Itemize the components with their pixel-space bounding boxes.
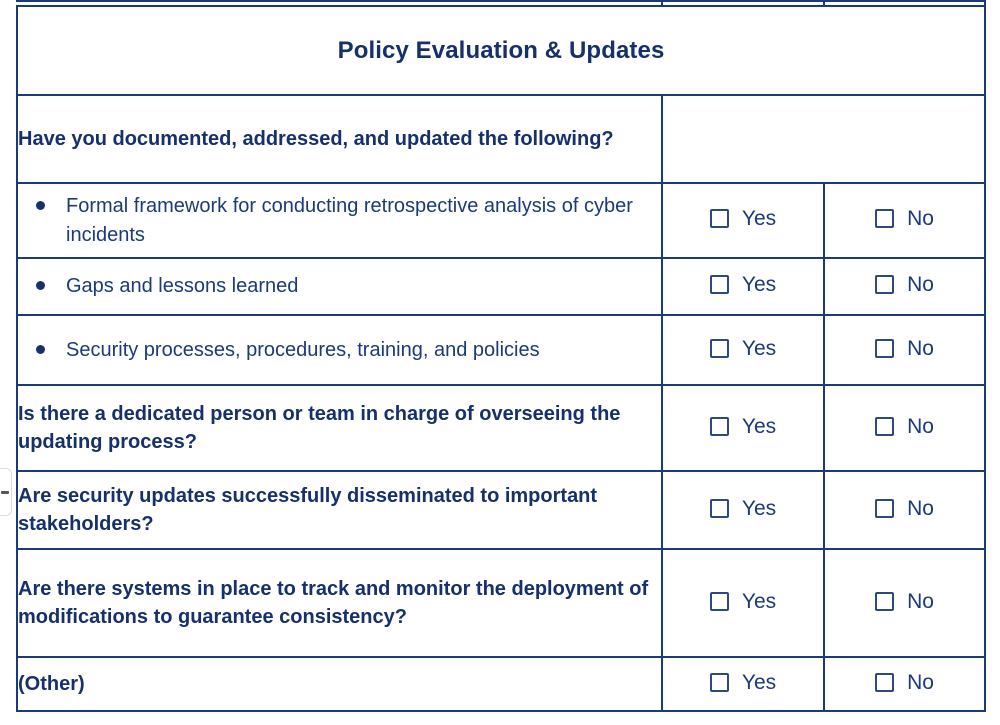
yes-label: Yes (742, 208, 776, 229)
table-row: Are there systems in place to track and … (17, 549, 985, 657)
no-checkbox[interactable] (875, 673, 894, 692)
no-label: No (907, 338, 934, 359)
no-label: No (907, 416, 934, 437)
yes-checkbox[interactable] (710, 209, 729, 228)
bullet-item-cell: Gaps and lessons learned (17, 258, 662, 315)
policy-evaluation-form-page: Policy Evaluation & Updates Have you doc… (0, 0, 1000, 725)
no-checkbox[interactable] (875, 209, 894, 228)
yes-option-cell[interactable]: Yes (662, 183, 824, 258)
left-edge-handle[interactable] (0, 468, 12, 516)
yes-label: Yes (742, 416, 776, 437)
table-row: (Other) Yes No (17, 657, 985, 711)
no-checkbox[interactable] (875, 417, 894, 436)
no-label: No (907, 274, 934, 295)
table-row: Formal framework for conducting retrospe… (17, 183, 985, 258)
prompt-text: Have you documented, addressed, and upda… (18, 125, 661, 153)
no-option-cell[interactable]: No (824, 258, 985, 315)
table-row: Are security updates successfully dissem… (17, 471, 985, 549)
yes-label: Yes (742, 591, 776, 612)
section-title-cell: Policy Evaluation & Updates (17, 6, 985, 95)
policy-evaluation-table: Policy Evaluation & Updates Have you doc… (16, 5, 986, 712)
question-cell: Is there a dedicated person or team in c… (17, 385, 662, 471)
no-checkbox[interactable] (875, 499, 894, 518)
empty-options-cell (662, 95, 985, 183)
bullet-item-cell: Formal framework for conducting retrospe… (17, 183, 662, 258)
no-label: No (907, 208, 934, 229)
question-cell: Are security updates successfully dissem… (17, 471, 662, 549)
table-row: Have you documented, addressed, and upda… (17, 95, 985, 183)
table-row: Security processes, procedures, training… (17, 315, 985, 385)
no-option-cell[interactable]: No (824, 657, 985, 711)
yes-checkbox[interactable] (710, 673, 729, 692)
no-label: No (907, 672, 934, 693)
yes-checkbox[interactable] (710, 417, 729, 436)
no-checkbox[interactable] (875, 339, 894, 358)
collapse-dash-icon (1, 491, 9, 494)
table-row: Is there a dedicated person or team in c… (17, 385, 985, 471)
prompt-cell: Have you documented, addressed, and upda… (17, 95, 662, 183)
bullet-item-label: Security processes, procedures, training… (62, 336, 661, 364)
yes-checkbox[interactable] (710, 275, 729, 294)
no-checkbox[interactable] (875, 275, 894, 294)
bullet-item-label: Formal framework for conducting retrospe… (62, 192, 661, 249)
no-option-cell[interactable]: No (824, 183, 985, 258)
question-cell: Are there systems in place to track and … (17, 549, 662, 657)
yes-label: Yes (742, 498, 776, 519)
question-text: Are there systems in place to track and … (18, 575, 661, 632)
bullet-dot-icon (18, 192, 62, 210)
yes-label: Yes (742, 338, 776, 359)
yes-checkbox[interactable] (710, 499, 729, 518)
no-checkbox[interactable] (875, 592, 894, 611)
table-row: Gaps and lessons learned Yes No (17, 258, 985, 315)
page-title: Policy Evaluation & Updates (338, 37, 665, 64)
yes-option-cell[interactable]: Yes (662, 258, 824, 315)
yes-checkbox[interactable] (710, 592, 729, 611)
question-text: Are security updates successfully dissem… (18, 482, 661, 539)
other-cell: (Other) (17, 657, 662, 711)
yes-option-cell[interactable]: Yes (662, 549, 824, 657)
bullet-dot-icon (18, 336, 62, 354)
yes-label: Yes (742, 672, 776, 693)
question-text: Is there a dedicated person or team in c… (18, 400, 661, 457)
other-label: (Other) (18, 670, 661, 698)
yes-option-cell[interactable]: Yes (662, 657, 824, 711)
yes-option-cell[interactable]: Yes (662, 385, 824, 471)
bullet-item-cell: Security processes, procedures, training… (17, 315, 662, 385)
bullet-item-label: Gaps and lessons learned (62, 272, 661, 300)
no-option-cell[interactable]: No (824, 315, 985, 385)
bullet-dot-icon (18, 272, 62, 290)
yes-checkbox[interactable] (710, 339, 729, 358)
yes-label: Yes (742, 274, 776, 295)
no-option-cell[interactable]: No (824, 549, 985, 657)
yes-option-cell[interactable]: Yes (662, 315, 824, 385)
no-label: No (907, 591, 934, 612)
table-row: Policy Evaluation & Updates (17, 6, 985, 95)
yes-option-cell[interactable]: Yes (662, 471, 824, 549)
no-label: No (907, 498, 934, 519)
no-option-cell[interactable]: No (824, 385, 985, 471)
no-option-cell[interactable]: No (824, 471, 985, 549)
